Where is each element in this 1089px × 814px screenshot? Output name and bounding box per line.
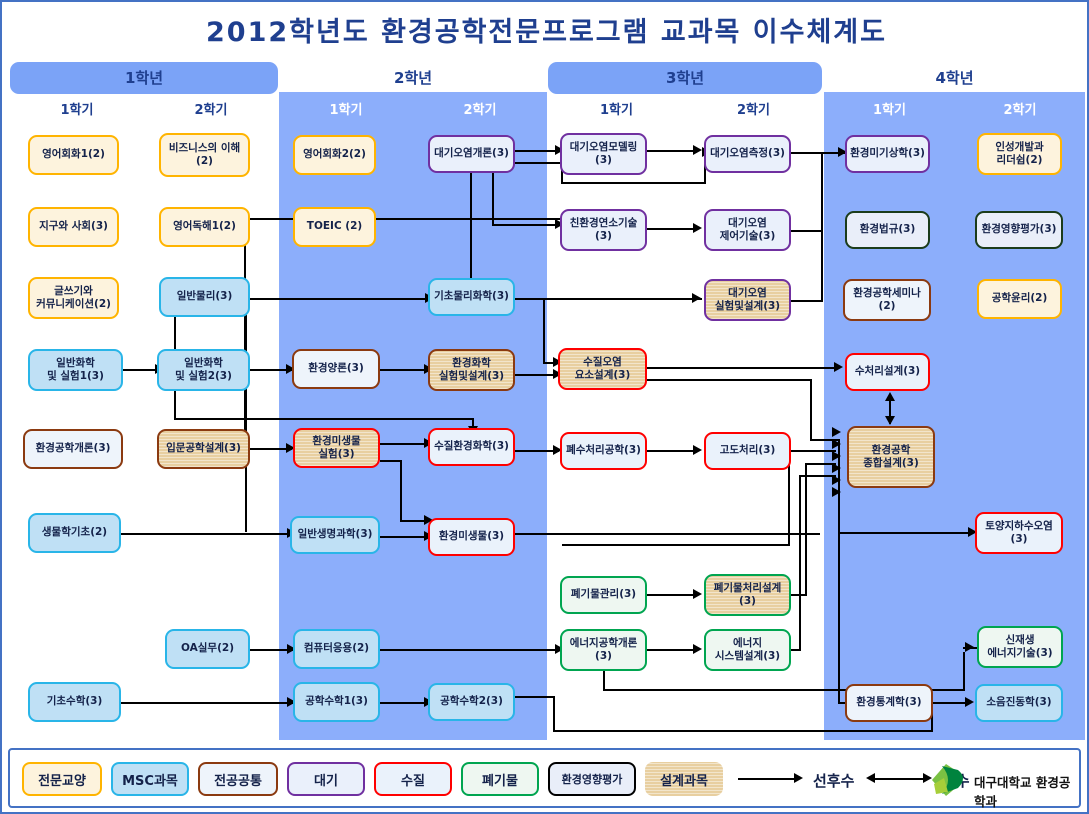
course-label: 대기오염모델링(3): [570, 141, 638, 167]
semester-header-2-2: 2학기: [413, 98, 547, 124]
legend-item-gen[interactable]: 전문교양: [22, 762, 102, 796]
course-label: 지구와 사회(3): [39, 220, 108, 233]
edge-line: [805, 463, 836, 465]
edge-arrow: [965, 697, 974, 707]
edge-line: [515, 162, 563, 164]
course-label: 컴퓨터응용(2): [304, 642, 369, 655]
course-node[interactable]: 대기오염모델링(3): [560, 133, 647, 175]
course-label: 대기오염제어기술(3): [720, 217, 776, 243]
edge-line: [515, 533, 820, 535]
course-label: 대기오염개론(3): [434, 147, 509, 160]
edge-line: [791, 300, 823, 302]
course-node[interactable]: 환경화학실험및설계(3): [428, 349, 515, 391]
edge-line: [838, 439, 840, 534]
edge-line: [380, 443, 428, 445]
course-node[interactable]: 인성개발과리더쉽(2): [977, 133, 1062, 175]
edge-arrow: [834, 362, 843, 372]
edge-arrow: [693, 145, 702, 155]
edge-line: [791, 152, 823, 154]
course-node[interactable]: 일반물리(3): [159, 277, 250, 317]
legend-prereq-arrow: [794, 773, 803, 783]
course-node[interactable]: 신재생에너지기술(3): [977, 626, 1063, 668]
course-node[interactable]: 수처리설계(3): [845, 353, 930, 391]
course-label: 환경공학개론(3): [36, 442, 111, 455]
edge-line: [805, 463, 807, 594]
edge-line: [838, 532, 972, 534]
edge-line: [647, 594, 697, 596]
legend-coreq-line: [872, 778, 928, 780]
course-label: 환경미생물실험(3): [312, 435, 360, 461]
course-node[interactable]: 지구와 사회(3): [28, 207, 119, 247]
university-logo-text: 대구대학교 환경공학과: [974, 772, 1079, 810]
edge-line: [821, 230, 823, 300]
course-node[interactable]: 환경법규(3): [845, 211, 930, 249]
page-title: 2012학년도 환경공학전문프로그램 교과목 이수체계도: [2, 10, 1089, 49]
edge-arrow: [693, 445, 702, 455]
course-label: 환경양론(3): [308, 362, 364, 375]
legend-label: 폐기물: [482, 770, 518, 789]
edge-line: [121, 702, 293, 704]
course-node[interactable]: 폐기물관리(3): [560, 576, 647, 614]
course-node[interactable]: 대기오염제어기술(3): [704, 209, 791, 251]
course-label: 환경법규(3): [860, 223, 916, 236]
course-node[interactable]: 비즈니스의 이해(2): [159, 133, 250, 177]
course-label: 환경미기상학(3): [850, 147, 925, 160]
course-label: 인성개발과리더쉽(2): [995, 141, 1043, 167]
course-label: 에너지공학개론(3): [570, 637, 638, 663]
edge-line: [515, 696, 555, 698]
course-node[interactable]: 환경통계학(3): [845, 684, 933, 722]
course-label: 수처리설계(3): [855, 365, 920, 378]
course-node[interactable]: 글쓰기와커뮤니케이션(2): [28, 277, 119, 319]
legend-item-air[interactable]: 대기: [287, 762, 365, 796]
course-label: 토양지하수오염(3): [985, 520, 1053, 546]
edge-line: [647, 649, 697, 651]
course-node[interactable]: 수질환경화학(3): [428, 428, 515, 466]
semester-header-1-1: 1학기: [10, 98, 144, 124]
course-node[interactable]: 토양지하수오염(3): [975, 512, 1063, 554]
edge-arrow: [692, 293, 701, 303]
course-label: 신재생에너지기술(3): [987, 634, 1052, 660]
legend-item-msc[interactable]: MSC과목: [111, 762, 189, 796]
course-node[interactable]: 에너지공학개론(3): [560, 629, 647, 671]
course-node[interactable]: 대기오염개론(3): [428, 135, 515, 173]
edge-line: [380, 649, 560, 651]
course-node[interactable]: 영어회화2(2): [293, 135, 376, 175]
semester-header-4-1: 1학기: [824, 98, 955, 124]
course-node[interactable]: 영어회화1(2): [28, 135, 119, 175]
course-label: 친환경연소기술(3): [570, 217, 638, 243]
course-label: 입문공학설계(3): [166, 442, 241, 455]
edge-line: [963, 652, 965, 690]
course-label: 일반물리(3): [177, 290, 233, 303]
legend-prereq-line: [738, 778, 798, 780]
edge-line: [515, 150, 560, 152]
course-label: 일반화학및 실험2(3): [175, 357, 232, 383]
legend-label: 설계과목: [660, 770, 708, 789]
course-label: 영어회화2(2): [303, 148, 366, 161]
semester-header-3-1: 1학기: [548, 98, 685, 124]
edge-line: [543, 298, 545, 364]
course-node[interactable]: 일반화학및 실험1(3): [28, 349, 123, 391]
edge-line: [492, 172, 494, 226]
legend-label: 전공공통: [214, 770, 262, 789]
course-label: 영어독해1(2): [173, 220, 236, 233]
university-logo-icon: [928, 762, 972, 798]
edge-line: [400, 460, 402, 520]
course-label: 환경통계학(3): [856, 696, 921, 709]
legend-prereq-label: 선후수: [813, 770, 854, 791]
legend-label: 전문교양: [38, 770, 86, 789]
edge-line: [174, 388, 176, 420]
course-node[interactable]: 공학수학1(3): [293, 682, 380, 722]
course-node[interactable]: 환경미생물(3): [428, 518, 515, 556]
edge-line: [121, 533, 293, 535]
course-label: 일반화학및 실험1(3): [47, 357, 104, 383]
course-label: 공학수학1(3): [305, 695, 368, 708]
course-label: 소음진동학(3): [986, 696, 1051, 709]
course-node[interactable]: 공학윤리(2): [977, 279, 1062, 319]
semester-header-1-2: 2학기: [144, 98, 278, 124]
year-header-4: 4학년: [824, 62, 1085, 94]
edge-line: [799, 475, 836, 477]
course-node[interactable]: 기초물리화학(3): [428, 278, 515, 316]
course-label: 일반생명과학(3): [298, 528, 373, 541]
edge-arrow: [693, 589, 702, 599]
legend-item-water[interactable]: 수질: [374, 762, 452, 796]
edge-line: [380, 369, 428, 371]
edge-arrow: [885, 392, 895, 401]
course-label: 기초수학(3): [47, 695, 103, 708]
course-label: TOEIC (2): [307, 220, 362, 233]
legend-coreq-arrow-left: [866, 773, 875, 783]
course-label: 고도처리(3): [720, 444, 776, 457]
course-node[interactable]: 컴퓨터응용(2): [293, 629, 380, 669]
legend-label: 대기: [314, 770, 338, 789]
course-node[interactable]: 입문공학설계(3): [157, 429, 250, 469]
course-label: OA실무(2): [181, 642, 234, 655]
edge-line: [821, 152, 823, 230]
course-node[interactable]: TOEIC (2): [293, 207, 376, 247]
course-node[interactable]: 환경양론(3): [292, 349, 380, 389]
course-label: 환경화학실험및설계(3): [439, 357, 504, 383]
legend-item-waste[interactable]: 폐기물: [461, 762, 539, 796]
edge-line: [931, 702, 969, 704]
course-label: 환경공학종합설계(3): [863, 444, 919, 470]
edge-line: [561, 182, 706, 184]
edge-line: [380, 536, 428, 538]
legend-label: 환경영향평가: [562, 771, 623, 787]
course-label: 환경공학세미나(2): [853, 287, 921, 313]
course-node[interactable]: 대기오염실험및설계(3): [704, 279, 791, 321]
course-label: 대기오염측정(3): [710, 147, 785, 160]
edge-line: [380, 460, 402, 462]
course-label: 수질오염요소설계(3): [575, 356, 631, 382]
course-node[interactable]: 영어독해1(2): [159, 207, 250, 247]
year-header-3: 3학년: [548, 62, 822, 94]
course-node[interactable]: 환경공학종합설계(3): [847, 426, 935, 488]
edge-line: [799, 475, 801, 649]
edge-line: [647, 450, 697, 452]
edge-line: [553, 696, 555, 732]
semester-header-4-2: 2학기: [955, 98, 1085, 124]
edge-arrow: [693, 223, 702, 233]
course-label: 폐기물처리설계(3): [714, 582, 782, 608]
legend-item-eia[interactable]: 환경영향평가: [548, 762, 636, 796]
course-label: 글쓰기와커뮤니케이션(2): [36, 285, 111, 311]
semester-header-3-2: 2학기: [685, 98, 822, 124]
course-label: 환경영향평가(3): [982, 223, 1057, 236]
edge-line: [838, 532, 840, 704]
edge-line: [244, 218, 562, 220]
year-header-1: 1학년: [10, 62, 278, 94]
edge-line: [553, 730, 883, 732]
year-header-2: 2학년: [279, 62, 547, 94]
edge-line: [810, 379, 812, 441]
course-node[interactable]: 환경미기상학(3): [845, 135, 930, 173]
edge-line: [791, 649, 801, 651]
course-label: 폐기물관리(3): [571, 588, 636, 601]
course-node[interactable]: 환경공학개론(3): [23, 429, 123, 469]
course-node[interactable]: 공학수학2(3): [428, 683, 515, 721]
edge-line: [647, 379, 812, 381]
edge-line: [515, 298, 545, 300]
course-node[interactable]: 고도처리(3): [704, 432, 791, 470]
legend-item-design[interactable]: 설계과목: [645, 762, 723, 796]
legend: 전문교양 MSC과목 전공공통 대기 수질 폐기물 환경영향평가 설계과목 선후…: [8, 748, 1081, 808]
course-node[interactable]: 일반화학및 실험2(3): [157, 349, 250, 391]
edge-line: [647, 367, 837, 369]
course-label: 수질환경화학(3): [434, 440, 509, 453]
course-node[interactable]: 대기오염측정(3): [704, 135, 791, 173]
course-node[interactable]: 소음진동학(3): [975, 684, 1063, 722]
edge-arrow: [693, 644, 702, 654]
course-node[interactable]: 일반생명과학(3): [290, 516, 380, 554]
legend-item-major[interactable]: 전공공통: [198, 762, 278, 796]
course-label: 생물학기초(2): [42, 526, 107, 539]
course-label: 비즈니스의 이해(2): [169, 142, 240, 168]
course-label: 공학윤리(2): [992, 292, 1048, 305]
course-label: 폐수처리공학(3): [566, 444, 641, 457]
edge-line: [963, 647, 977, 649]
edge-line: [492, 224, 560, 226]
course-label: 공학수학2(3): [440, 695, 503, 708]
course-node[interactable]: 폐기물처리설계(3): [704, 574, 791, 616]
edge-line: [123, 369, 159, 371]
course-node[interactable]: 환경영향평가(3): [975, 211, 1063, 249]
course-label: 에너지시스템설계(3): [715, 637, 780, 663]
edge-line: [174, 418, 474, 420]
edge-line: [791, 230, 823, 232]
course-label: 기초물리화학(3): [434, 290, 509, 303]
course-node[interactable]: OA실무(2): [165, 629, 250, 669]
curriculum-flowchart: 2012학년도 환경공학전문프로그램 교과목 이수체계도 1학년 2학년 3학년…: [0, 0, 1089, 814]
edge-line: [562, 544, 790, 546]
course-label: 대기오염실험및설계(3): [715, 287, 780, 313]
course-node[interactable]: 친환경연소기술(3): [560, 209, 647, 251]
edge-arrow: [832, 427, 841, 437]
course-node[interactable]: 폐수처리공학(3): [560, 432, 647, 470]
course-node[interactable]: 환경공학세미나(2): [843, 279, 931, 321]
course-node[interactable]: 수질오염요소설계(3): [558, 348, 647, 390]
edge-line: [883, 730, 933, 732]
course-label: 영어회화1(2): [42, 148, 105, 161]
legend-label: 수질: [401, 770, 425, 789]
legend-label: MSC과목: [122, 770, 178, 789]
course-node[interactable]: 생물학기초(2): [28, 513, 121, 553]
course-label: 환경미생물(3): [439, 530, 504, 543]
course-node[interactable]: 에너지시스템설계(3): [704, 629, 791, 671]
course-node[interactable]: 기초수학(3): [28, 682, 121, 722]
edge-arrow: [885, 416, 895, 425]
course-node[interactable]: 환경미생물실험(3): [293, 428, 380, 468]
edge-line: [380, 702, 428, 704]
edge-line: [647, 150, 697, 152]
edge-line: [647, 228, 697, 230]
edge-line: [245, 292, 247, 532]
edge-line: [791, 450, 836, 452]
semester-header-2-1: 1학기: [279, 98, 413, 124]
